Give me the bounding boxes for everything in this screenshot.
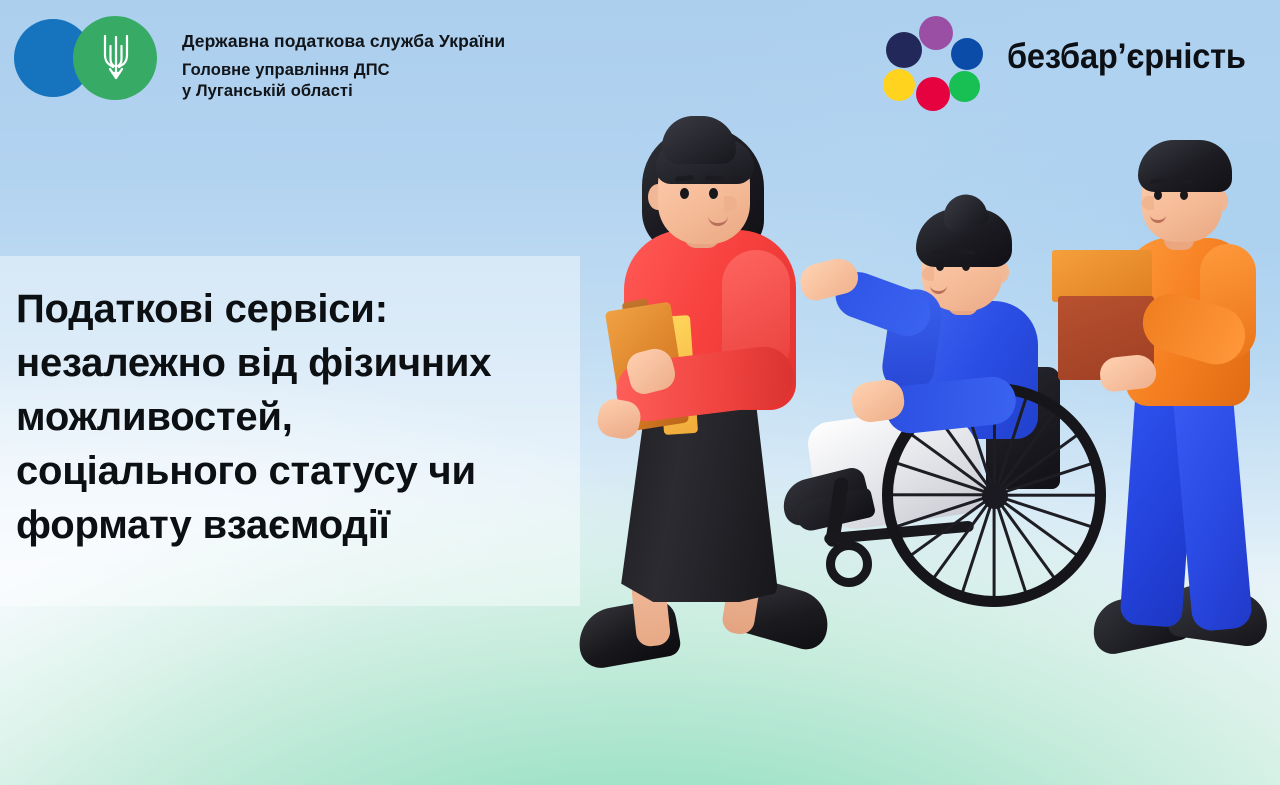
dps-logo: Державна податкова служба України Головн…	[14, 16, 204, 102]
blue-dot-icon	[951, 38, 983, 70]
headline-line-2: незалежно від фізичних	[16, 336, 576, 390]
ukraine-trident-icon	[101, 30, 131, 86]
purple-dot-icon	[919, 16, 953, 50]
headline-text: Податкові сервіси: незалежно від фізични…	[16, 282, 576, 552]
yellow-dot-icon	[883, 69, 915, 101]
barrier-free-logo: безбар’єрність	[869, 14, 1264, 100]
crimson-dot-icon	[916, 77, 950, 111]
organization-name: Державна податкова служба України Головн…	[182, 33, 505, 100]
green-dot-icon	[949, 71, 980, 102]
header-bar: Державна податкова служба України Головн…	[0, 0, 1280, 118]
org-line-1: Державна податкова служба України	[182, 33, 505, 51]
org-line-2: Головне управління ДПС	[182, 62, 505, 79]
headline-line-1: Податкові сервіси:	[16, 282, 576, 336]
barrier-free-dots	[869, 14, 989, 100]
barrier-free-wordmark: безбар’єрність	[1007, 37, 1246, 77]
headline-line-5: формату взаємодії	[16, 498, 576, 552]
headline-line-4: соціального статусу чи	[16, 444, 576, 498]
org-line-3: у Луганській області	[182, 83, 505, 100]
headline-line-3: можливостей,	[16, 390, 576, 444]
poster-canvas: Державна податкова служба України Головн…	[0, 0, 1280, 785]
navy-dot-icon	[886, 32, 922, 68]
